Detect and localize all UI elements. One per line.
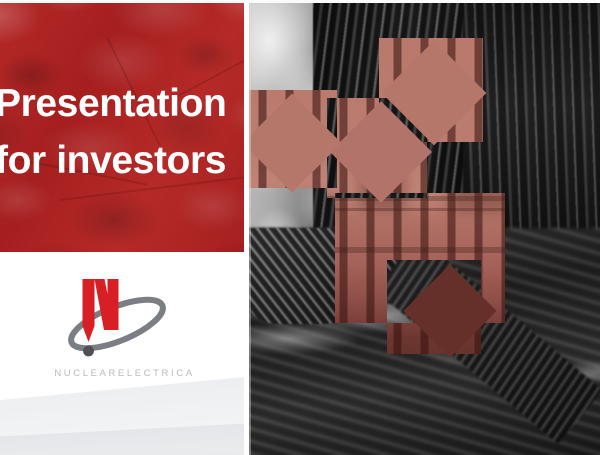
photo-panel [249, 0, 600, 455]
title-slide: Presentation for investors [0, 0, 600, 455]
photo-left-seam [249, 0, 251, 455]
logo-wordmark: NUCLEARELECTRICA [0, 368, 249, 379]
panel-gutter [244, 0, 249, 455]
title-line-1: Presentation [0, 75, 244, 132]
title-line-2: for investors [0, 132, 244, 189]
top-edge-strip [0, 0, 600, 3]
nuclearelectrica-logo-icon [52, 272, 182, 362]
left-column: Presentation for investors [0, 0, 249, 455]
slide-title: Presentation for investors [0, 75, 244, 189]
tree-trunk-bark-secondary [463, 0, 600, 244]
logo-area: NUCLEARELECTRICA [0, 252, 249, 455]
title-panel: Presentation for investors [0, 3, 244, 252]
